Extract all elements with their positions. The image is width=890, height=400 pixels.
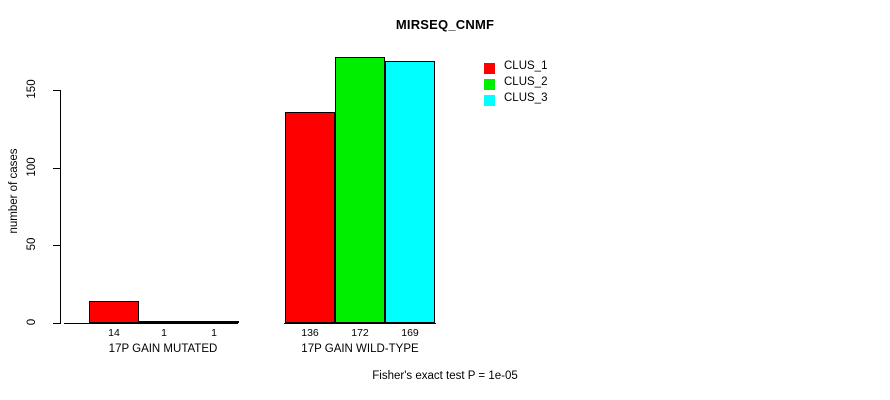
bar-value-group-2-clus-3: 169 — [380, 327, 440, 339]
y-tick-50 — [53, 245, 60, 246]
group-label-17p-gain-wild-type: 17P GAIN WILD-TYPE — [230, 343, 490, 355]
bar-group-2-clus-1[interactable] — [285, 112, 335, 323]
statistical-test-annotation: Fisher's exact test P = 1e-05 — [0, 370, 890, 382]
legend-swatch-clus-2 — [484, 79, 495, 90]
legend-swatch-clus-3 — [484, 95, 495, 106]
y-tick-100 — [53, 168, 60, 169]
bar-group-2-clus-3[interactable] — [385, 61, 435, 323]
legend-label-clus-1: CLUS_1 — [504, 60, 547, 72]
x-axis-line-group-1 — [64, 323, 238, 324]
y-tick-label-0: 0 — [26, 302, 38, 342]
y-tick-label-150: 150 — [26, 69, 38, 109]
legend-swatch-clus-1 — [484, 63, 495, 74]
y-tick-0 — [53, 323, 60, 324]
bar-group-1-clus-3[interactable] — [189, 321, 239, 323]
bar-group-2-clus-2[interactable] — [335, 57, 385, 323]
bar-group-1-clus-2[interactable] — [139, 321, 189, 323]
bar-group-1-clus-1[interactable] — [89, 301, 139, 323]
y-tick-label-100: 100 — [26, 147, 38, 187]
y-axis-line — [60, 90, 61, 324]
chart-title: MIRSEQ_CNMF — [0, 17, 890, 32]
y-tick-150 — [53, 90, 60, 91]
legend-label-clus-2: CLUS_2 — [504, 76, 547, 88]
legend-label-clus-3: CLUS_3 — [504, 92, 547, 104]
chart-plot-area: MIRSEQ_CNMF 150 100 50 0 number of cases… — [0, 0, 890, 400]
bar-value-group-1-clus-3: 1 — [184, 327, 244, 339]
y-tick-label-50: 50 — [26, 224, 38, 264]
y-axis-label: number of cases — [8, 141, 20, 241]
x-axis-line-group-2 — [284, 323, 436, 324]
